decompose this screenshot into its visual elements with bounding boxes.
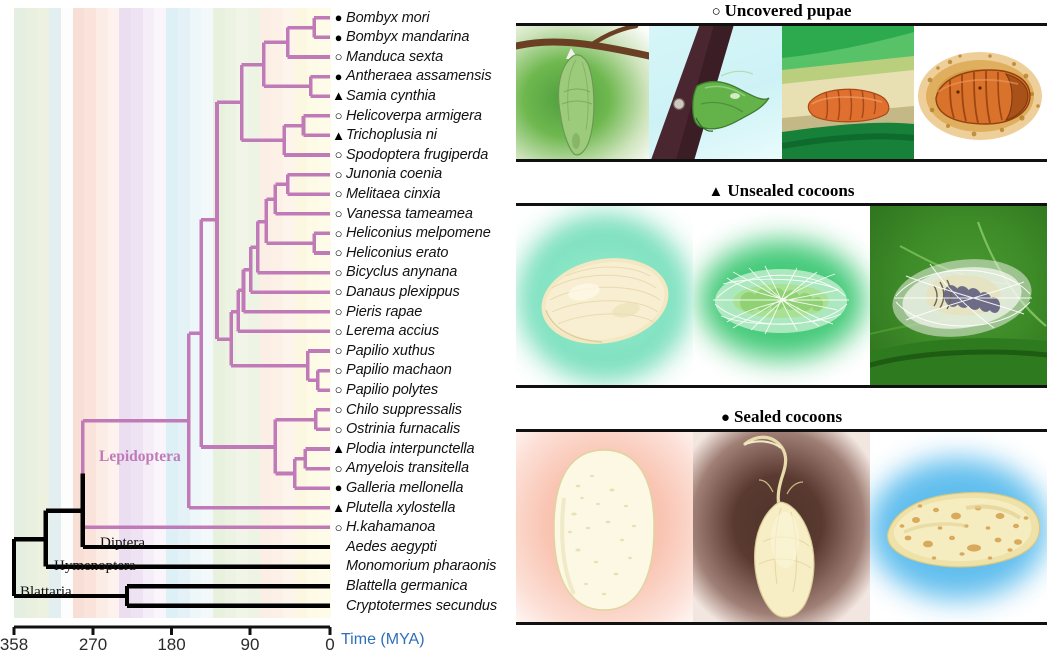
tip-row: ○Heliconius melpomene	[332, 224, 491, 243]
tip-row: ○Pieris rapae	[332, 302, 422, 321]
photo-strip-unsealed-cocoons	[516, 203, 1047, 388]
axis-tick-0: 0	[325, 635, 334, 655]
axis-tick-90: 90	[241, 635, 260, 655]
tip-species-name: Chilo suppressalis	[346, 402, 462, 418]
tip-species-name: Antheraea assamensis	[346, 68, 492, 84]
tip-row: ○Chilo suppressalis	[332, 400, 462, 419]
open-circle-icon: ○	[332, 207, 345, 220]
open-circle-icon: ○	[332, 364, 345, 377]
clade-label-hymenoptera: Hymenoptera	[54, 558, 136, 575]
time-axis-title: Time (MYA)	[341, 631, 425, 649]
tip-row: ▲Plodia interpunctella	[332, 439, 475, 458]
tip-species-name: Papilio polytes	[346, 382, 438, 398]
tip-species-name: Samia cynthia	[346, 88, 436, 104]
filled-triangle-icon: ▲	[332, 129, 345, 142]
tip-row: ▲Samia cynthia	[332, 86, 436, 105]
tip-species-name: H.kahamanoa	[346, 519, 435, 535]
legend-title-text: Uncovered pupae	[725, 1, 852, 20]
no-marker-icon	[332, 540, 345, 553]
axis-tick-358: 358	[0, 635, 28, 655]
tip-species-name: Papilio machaon	[346, 362, 452, 378]
photo-green-pupa-on-dark-stem	[649, 26, 782, 159]
tip-row: ○Helicoverpa armigera	[332, 106, 482, 125]
axis-tick-180: 180	[157, 635, 185, 655]
tip-species-name: Plutella xylostella	[346, 500, 455, 516]
open-circle-icon: ○	[332, 462, 345, 475]
tip-row: ○Amyelois transitella	[332, 459, 469, 478]
tip-row: ○H.kahamanoa	[332, 518, 435, 537]
tip-species-name: Spodoptera frugiperda	[346, 147, 488, 163]
tip-species-name: Manduca sexta	[346, 49, 443, 65]
tip-species-name: Bicyclus anynana	[346, 264, 457, 280]
tip-row: ○Melitaea cinxia	[332, 184, 440, 203]
photo-green-chrysalis-hanging-from-twig	[516, 26, 649, 159]
photo-strip-sealed-cocoons	[516, 429, 1047, 625]
tip-row: ○Lerema accius	[332, 322, 439, 341]
tip-species-name: Amyelois transitella	[346, 460, 469, 476]
tip-row: ○Papilio xuthus	[332, 341, 435, 360]
tip-species-name: Monomorium pharaonis	[346, 558, 496, 574]
open-circle-icon: ○	[332, 148, 345, 161]
open-circle-icon: ○	[332, 423, 345, 436]
legend-group-uncovered-pupae: ○Uncovered pupae	[516, 0, 1047, 162]
tip-row: ○Vanessa tameamea	[332, 204, 473, 223]
open-circle-icon: ○	[332, 325, 345, 338]
figure-root: ●Bombyx mori●Bombyx mandarina○Manduca se…	[0, 0, 1051, 657]
tip-row: Cryptotermes secundus	[332, 596, 497, 615]
tip-row: ○Heliconius erato	[332, 243, 448, 262]
no-marker-icon	[332, 579, 345, 592]
filled-triangle-icon: ▲	[332, 501, 345, 514]
tip-species-name: Ostrinia furnacalis	[346, 421, 460, 437]
no-marker-icon	[332, 560, 345, 573]
open-circle-icon: ○	[332, 521, 345, 534]
tip-species-name: Pieris rapae	[346, 304, 422, 320]
photo-strip-uncovered-pupae	[516, 23, 1047, 162]
photo-flattened-speckled-cocoon-on-blue-background	[870, 432, 1047, 622]
no-marker-icon	[332, 599, 345, 612]
tip-row: Monomorium pharaonis	[332, 557, 496, 576]
tip-species-name: Bombyx mandarina	[346, 29, 469, 45]
open-circle-icon: ○	[332, 227, 345, 240]
open-circle-icon: ○	[332, 168, 345, 181]
tip-row: ○Papilio polytes	[332, 380, 438, 399]
photo-legend-column: ○Uncovered pupae	[512, 0, 1051, 657]
filled-circle-icon: ●	[332, 481, 345, 494]
tip-row: Blattella germanica	[332, 576, 467, 595]
open-circle-icon: ○	[332, 383, 345, 396]
tip-species-name: Aedes aegypti	[346, 539, 437, 555]
photo-orange-pupa-in-soil-chamber	[914, 26, 1047, 159]
open-circle-icon: ○	[332, 403, 345, 416]
filled-circle-icon: ●	[332, 11, 345, 24]
tip-species-name: Blattella germanica	[346, 578, 467, 594]
filled-triangle-icon: ▲	[332, 89, 345, 102]
tip-row: ▲Plutella xylostella	[332, 498, 455, 517]
tip-species-name: Junonia coenia	[346, 166, 442, 182]
open-circle-icon: ○	[332, 50, 345, 63]
tip-row: ●Bombyx mandarina	[332, 28, 469, 47]
tip-row: ○Junonia coenia	[332, 165, 442, 184]
tip-species-name: Melitaea cinxia	[346, 186, 440, 202]
tip-row: ●Galleria mellonella	[332, 478, 463, 497]
tip-row: ○Bicyclus anynana	[332, 263, 457, 282]
tip-species-name: Lerema accius	[346, 323, 439, 339]
tip-row: ○Manduca sexta	[332, 47, 443, 66]
legend-title-text: Sealed cocoons	[734, 407, 842, 426]
legend-group-sealed-cocoons: ●Sealed cocoons	[516, 406, 1047, 625]
tip-species-name: Danaus plexippus	[346, 284, 460, 300]
open-circle-icon: ○	[332, 285, 345, 298]
filled-triangle-icon: ▲	[332, 442, 345, 455]
tip-species-name: Bombyx mori	[346, 10, 430, 26]
tip-row: ○Spodoptera frugiperda	[332, 145, 488, 164]
open-circle-icon: ○	[332, 266, 345, 279]
legend-title-uncovered-pupae: ○Uncovered pupae	[516, 0, 1047, 23]
photo-pale-silk-cocoon-with-stalk-on-brown-background	[693, 432, 870, 622]
legend-title-unsealed-cocoons: ▲Unsealed cocoons	[516, 180, 1047, 203]
tip-species-name: Plodia interpunctella	[346, 441, 475, 457]
filled-circle-icon: ●	[332, 70, 345, 83]
legend-title-sealed-cocoons: ●Sealed cocoons	[516, 406, 1047, 429]
tip-row: ●Bombyx mori	[332, 8, 430, 27]
tip-species-name: Galleria mellonella	[346, 480, 463, 496]
open-circle-icon: ○	[332, 246, 345, 259]
legend-group-unsealed-cocoons: ▲Unsealed cocoons	[516, 180, 1047, 388]
filled-triangle-icon: ▲	[709, 184, 724, 200]
tip-species-name: Trichoplusia ni	[346, 127, 437, 143]
photo-loose-silk-cocoon-on-leaf-with-dark-pupa	[870, 206, 1047, 385]
open-circle-icon: ○	[332, 305, 345, 318]
axis-tick-270: 270	[79, 635, 107, 655]
tip-species-name: Papilio xuthus	[346, 343, 435, 359]
tip-row: ○Papilio machaon	[332, 361, 452, 380]
filled-circle-icon: ●	[332, 31, 345, 44]
legend-title-text: Unsealed cocoons	[727, 181, 854, 200]
tip-species-name: Helicoverpa armigera	[346, 108, 482, 124]
open-circle-icon: ○	[712, 4, 721, 20]
photo-white-oval-sealed-cocoon-on-pink-background	[516, 432, 693, 622]
tip-row: ▲Trichoplusia ni	[332, 126, 437, 145]
tip-row: ○Danaus plexippus	[332, 282, 460, 301]
open-circle-icon: ○	[332, 187, 345, 200]
clade-label-blattaria: Blattaria	[20, 584, 72, 601]
tip-species-name: Heliconius melpomene	[346, 225, 491, 241]
tip-species-name: Heliconius erato	[346, 245, 448, 261]
filled-circle-icon: ●	[721, 410, 730, 426]
clade-label-lepidoptera: Lepidoptera	[99, 448, 181, 466]
photo-translucent-silk-cocoon-over-green-pupa	[693, 206, 870, 385]
clade-label-diptera: Diptera	[100, 535, 145, 552]
phylogeny-panel: ●Bombyx mori●Bombyx mandarina○Manduca se…	[0, 0, 512, 657]
tip-row: Aedes aegypti	[332, 537, 437, 556]
photo-orange-pupa-inside-split-stem	[782, 26, 914, 159]
time-axis: 358270180900	[0, 618, 512, 657]
tip-row: ○Ostrinia furnacalis	[332, 420, 460, 439]
open-circle-icon: ○	[332, 109, 345, 122]
tip-species-name: Cryptotermes secundus	[346, 598, 497, 614]
tip-row: ●Antheraea assamensis	[332, 67, 492, 86]
tip-species-name: Vanessa tameamea	[346, 206, 473, 222]
photo-cream-opaque-cocoon-on-teal-background	[516, 206, 693, 385]
open-circle-icon: ○	[332, 344, 345, 357]
